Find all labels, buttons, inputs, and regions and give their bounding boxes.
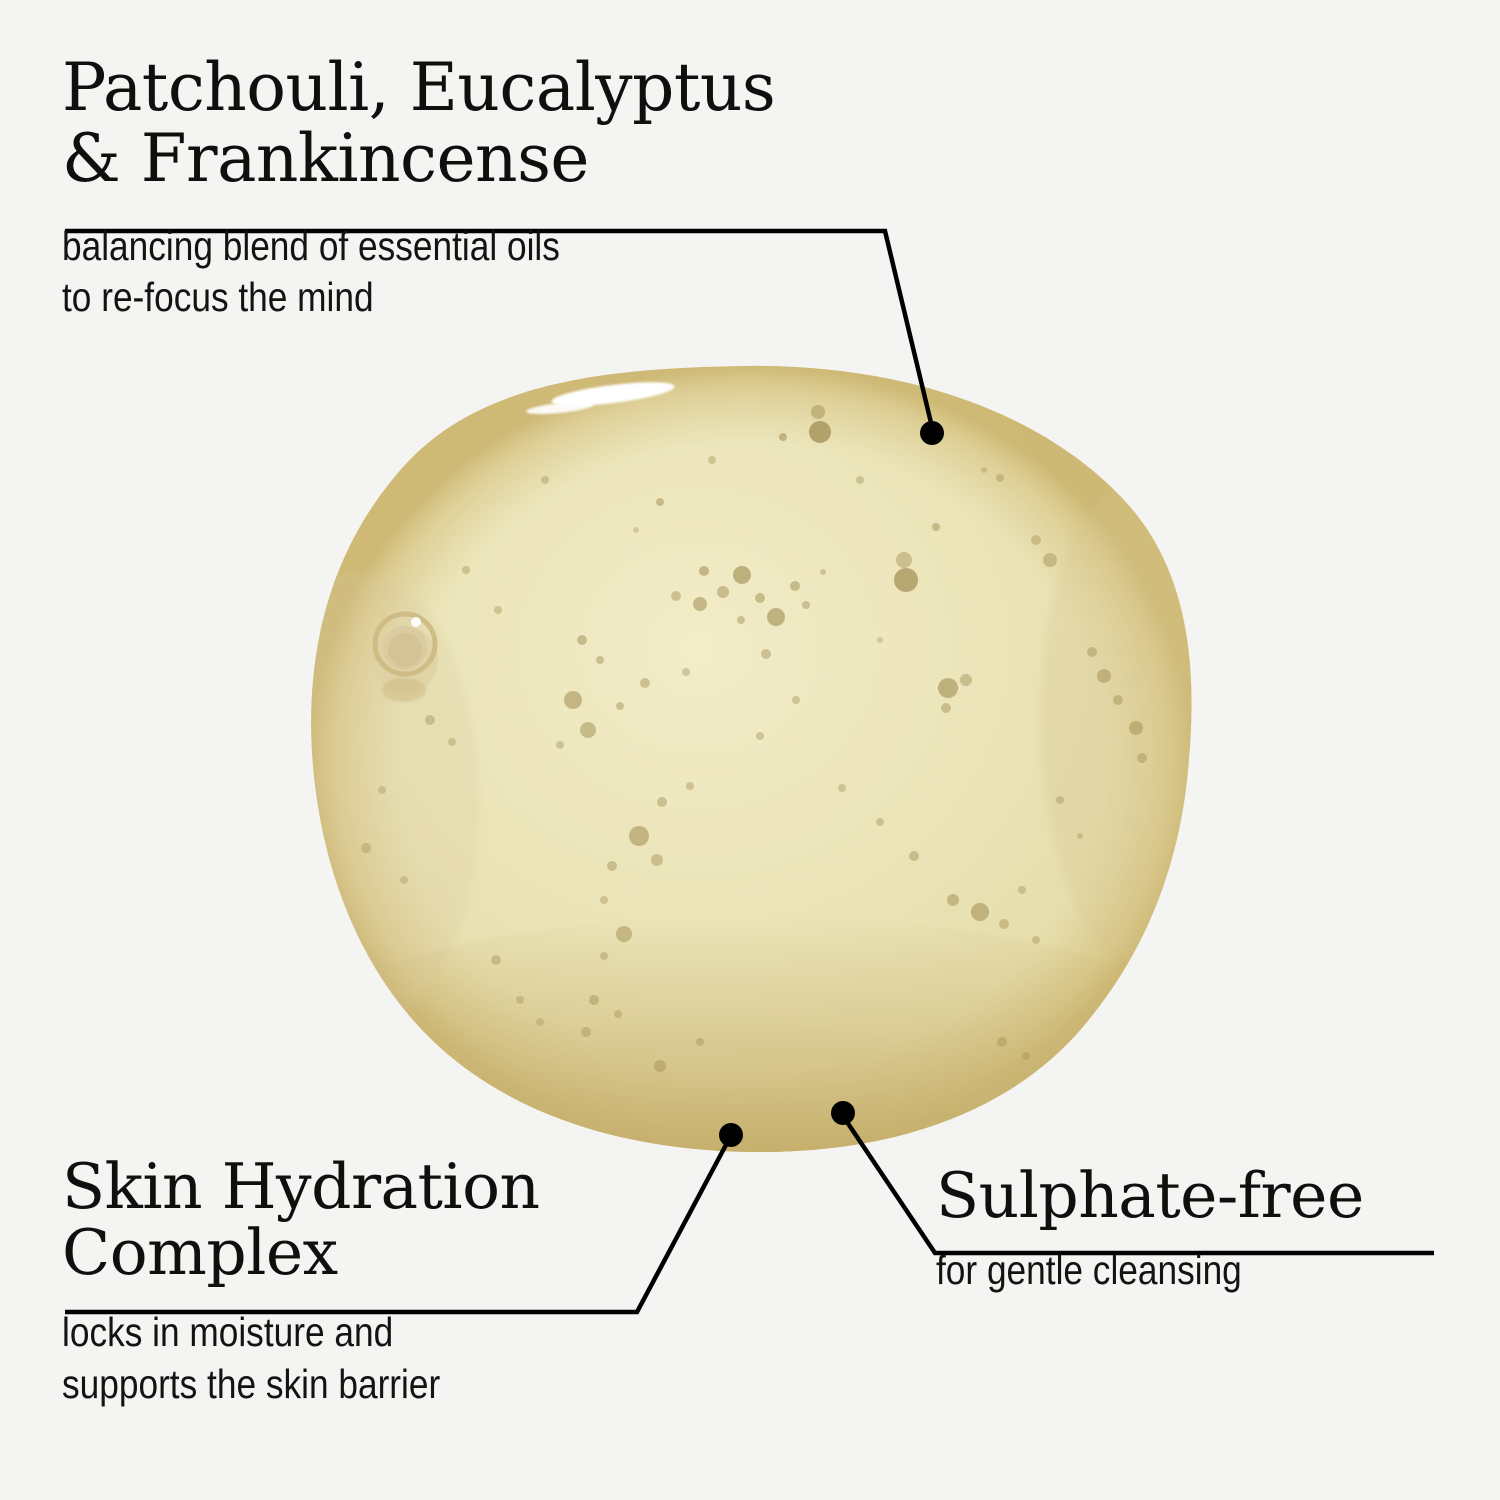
dot-hydration xyxy=(719,1123,743,1147)
callout-hydration-heading: Skin Hydration Complex xyxy=(62,1154,762,1285)
callout-sulphate-heading: Sulphate-free xyxy=(936,1163,1456,1229)
callout-aroma-heading: Patchouli, Eucalyptus & Frankincense xyxy=(62,52,962,195)
dot-sulphate xyxy=(831,1101,855,1125)
callout-aroma-description: balancing blend of essential oils to re-… xyxy=(62,221,836,324)
gel-blob-shape xyxy=(240,366,1260,1156)
callout-sulphate: Sulphate-free for gentle cleansing xyxy=(936,1163,1456,1296)
dot-aroma xyxy=(920,421,944,445)
callout-hydration-description: locks in moisture and supports the skin … xyxy=(62,1307,664,1410)
product-infographic: Patchouli, Eucalyptus & Frankincense bal… xyxy=(0,0,1500,1500)
callout-aroma: Patchouli, Eucalyptus & Frankincense bal… xyxy=(62,52,962,324)
callout-hydration: Skin Hydration Complex locks in moisture… xyxy=(62,1154,762,1410)
callout-sulphate-description: for gentle cleansing xyxy=(936,1245,1383,1297)
